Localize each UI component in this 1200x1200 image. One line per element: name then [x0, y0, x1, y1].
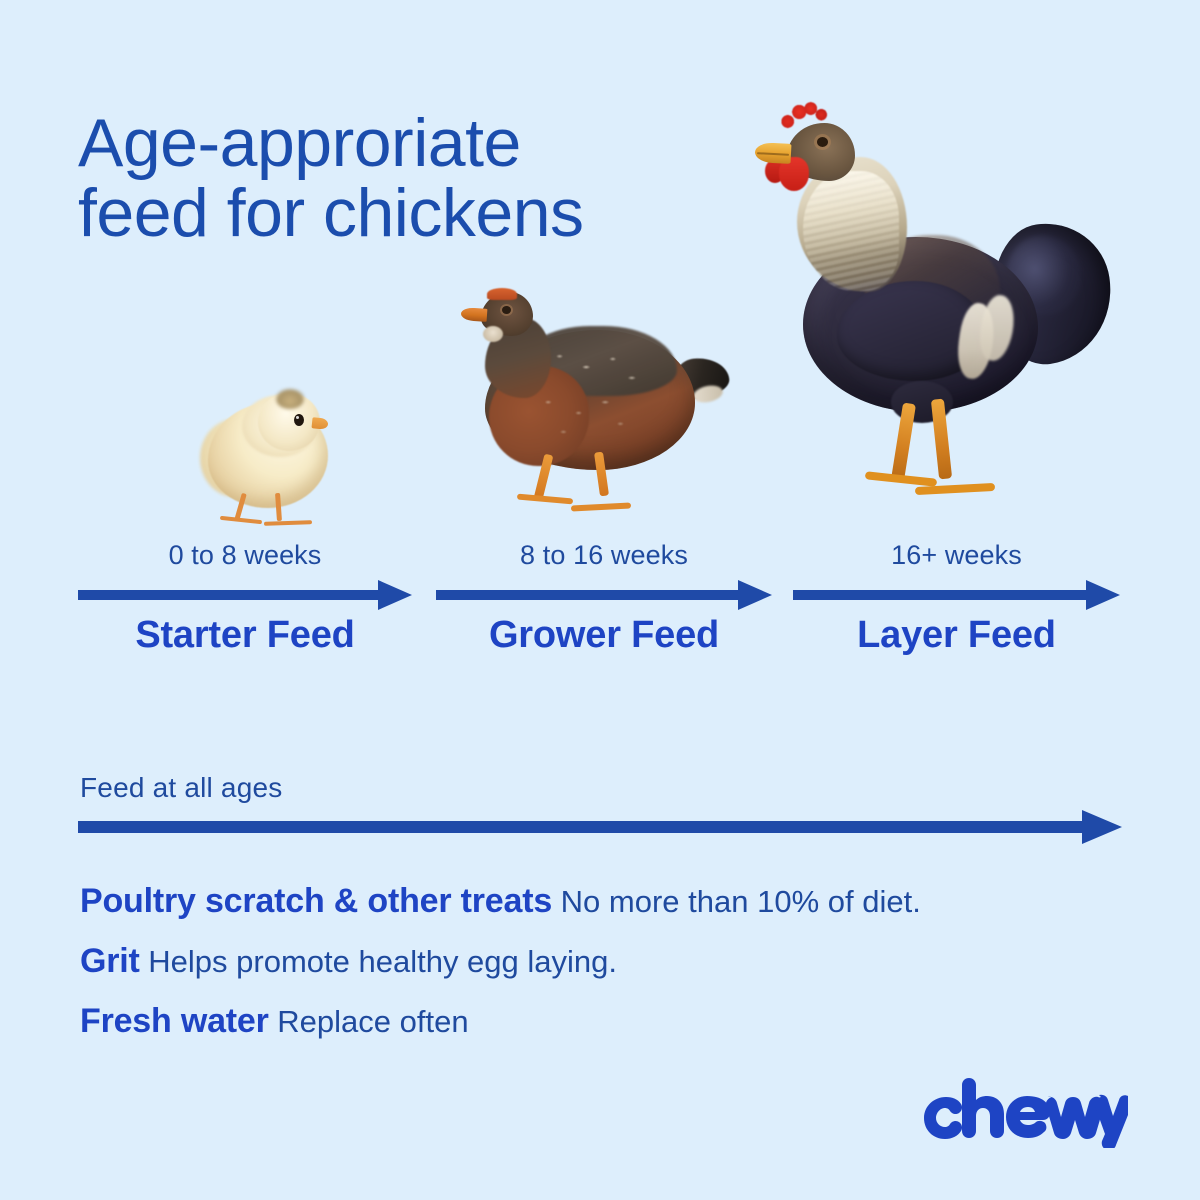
hen-leg-left — [891, 402, 916, 481]
note-term: Grit — [80, 942, 140, 980]
infographic-canvas: Age-approriate feed for chickens — [0, 0, 1200, 1200]
stage-arrow-icon — [436, 578, 772, 612]
note-term: Fresh water — [80, 1002, 269, 1040]
pullet-foot-right — [571, 502, 631, 511]
stage-feed-name: Layer Feed — [793, 614, 1120, 657]
pullet-beak — [461, 307, 488, 322]
stage-arrow-icon — [78, 578, 412, 612]
adult-hen-illustration — [745, 85, 1135, 535]
pullet-chicken-illustration — [455, 282, 755, 532]
page-title: Age-approriate feed for chickens — [78, 108, 778, 249]
chick-head-tuft — [276, 389, 304, 409]
feed-at-all-ages-label: Feed at all ages — [80, 772, 282, 804]
chick-eye — [294, 414, 304, 426]
chick-foot-left — [220, 516, 262, 524]
note-term: Poultry scratch & other treats — [80, 882, 552, 920]
all-ages-arrow-icon — [78, 808, 1122, 846]
note-grit: Grit Helps promote healthy egg laying. — [80, 942, 617, 981]
stage-arrow-icon — [793, 578, 1120, 612]
stage-age-label: 0 to 8 weeks — [78, 540, 412, 571]
hen-comb — [781, 97, 829, 131]
pullet-eye — [502, 306, 511, 314]
stage-feed-name: Starter Feed — [78, 614, 412, 657]
note-detail: Replace often — [277, 1004, 468, 1039]
note-fresh-water: Fresh water Replace often — [80, 1002, 469, 1041]
pullet-comb — [487, 288, 517, 300]
note-detail: No more than 10% of diet. — [561, 884, 921, 919]
chewy-logo — [913, 1076, 1128, 1148]
hen-eye — [817, 137, 828, 147]
stage-feed-name: Grower Feed — [436, 614, 772, 657]
note-detail: Helps promote healthy egg laying. — [148, 944, 617, 979]
pullet-wattle — [483, 326, 503, 342]
stage-age-label: 8 to 16 weeks — [436, 540, 772, 571]
chick-beak — [311, 417, 328, 430]
pullet-foot-left — [517, 494, 573, 505]
stage-age-label: 16+ weeks — [793, 540, 1120, 571]
hen-hackle-feathers — [803, 171, 899, 291]
note-poultry-scratch: Poultry scratch & other treats No more t… — [80, 882, 921, 921]
chick-foot-right — [264, 520, 312, 526]
baby-chick-illustration — [190, 385, 365, 535]
